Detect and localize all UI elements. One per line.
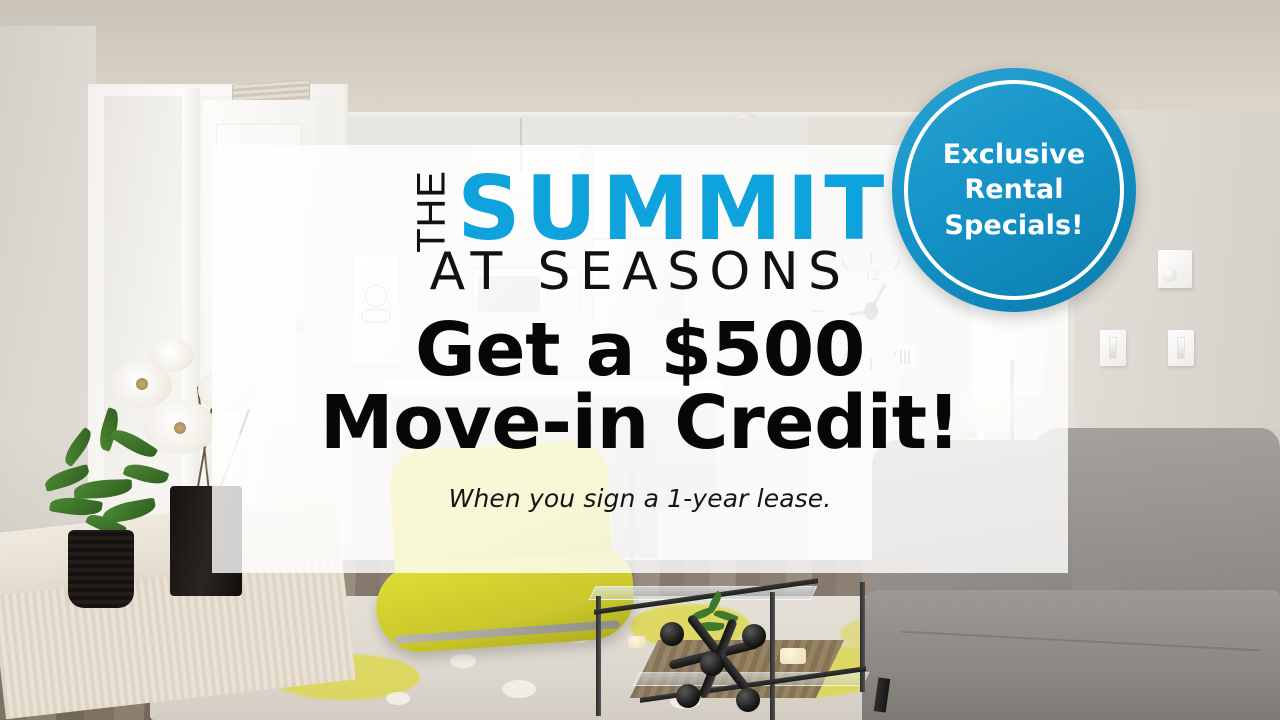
- offer-headline-line2: Move-in Credit!: [212, 387, 1068, 460]
- coffee-table-leg: [770, 592, 775, 720]
- rug-dot: [502, 680, 536, 698]
- badge-line-3: Specials!: [943, 208, 1086, 243]
- jack-sculpture-ball: [660, 622, 684, 646]
- light-switch: [1100, 330, 1126, 366]
- plant-leaf: [74, 479, 133, 499]
- candle: [780, 648, 806, 664]
- white-flower: [150, 338, 194, 372]
- jack-sculpture-ball: [742, 624, 766, 648]
- jack-sculpture-ball: [736, 688, 760, 712]
- thermostat: [1158, 250, 1192, 288]
- light-switch: [1168, 330, 1194, 366]
- logo-summit-text: SUMMIT: [457, 169, 889, 248]
- offer-headline: Get a $500 Move-in Credit!: [212, 314, 1068, 461]
- logo-the-text: THE: [410, 170, 455, 252]
- rug-dot: [386, 692, 410, 705]
- rug-dot: [450, 654, 476, 668]
- flower-center: [174, 422, 186, 434]
- light-switch-toggle: [1177, 337, 1185, 359]
- badge-line-2: Rental: [943, 172, 1086, 207]
- sofa-texture: [862, 590, 1280, 720]
- flower-center: [136, 378, 148, 390]
- badge-line-1: Exclusive: [943, 137, 1086, 172]
- offer-subheadline: When you sign a 1-year lease.: [212, 484, 1068, 513]
- jack-sculpture-ball: [676, 684, 700, 708]
- coffee-table-leg: [860, 582, 865, 692]
- black-plant-pot: [68, 530, 134, 608]
- thermostat-dial: [1163, 268, 1177, 282]
- plant-leaf: [60, 427, 96, 467]
- sofa-seat-cushion: [862, 590, 1280, 720]
- jack-sculpture-ball: [700, 652, 724, 676]
- exclusive-specials-badge[interactable]: Exclusive Rental Specials!: [892, 68, 1136, 312]
- rental-special-ad: 12: [0, 0, 1280, 720]
- badge-text: Exclusive Rental Specials!: [943, 137, 1086, 242]
- light-switch-toggle: [1109, 337, 1117, 359]
- candle: [628, 636, 646, 648]
